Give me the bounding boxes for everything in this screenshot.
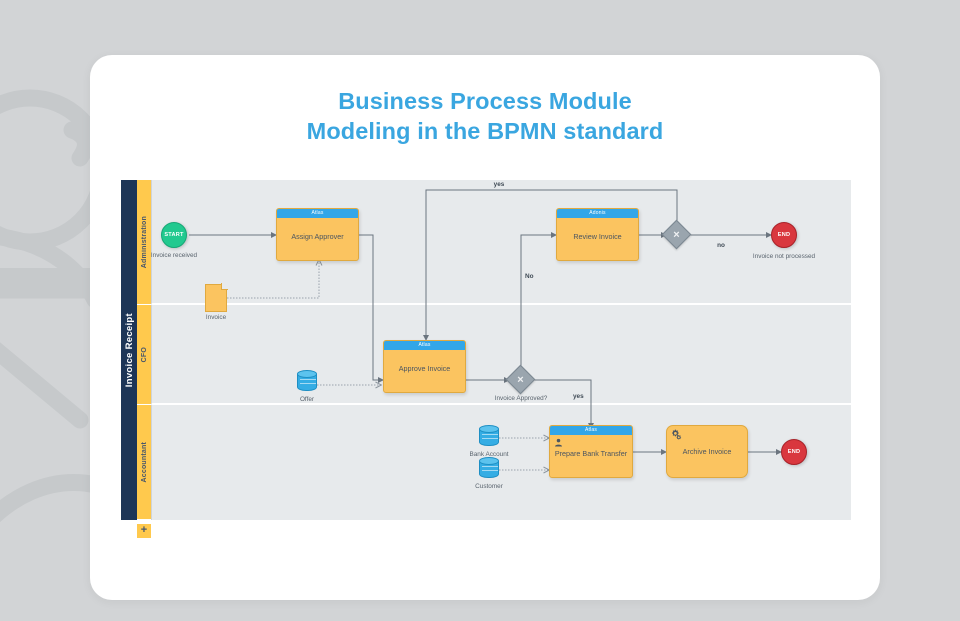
flow-label-yes-top: yes	[494, 181, 505, 189]
add-lane-button[interactable]: +	[137, 524, 151, 538]
task-review-invoice-label: Review Invoice	[569, 232, 625, 241]
task-approve-invoice-system: Atlas	[384, 341, 465, 350]
end-event-archive[interactable]: END	[781, 439, 807, 465]
artifact-invoice-document[interactable]	[205, 284, 227, 312]
end-event-invoice-not-processed-caption: Invoice not processed	[753, 253, 815, 261]
flow-label-no-right: no	[717, 242, 725, 250]
flow-label-no-middle: No	[525, 273, 534, 281]
page-title: Business Process Module Modeling in the …	[90, 86, 880, 146]
task-review-invoice[interactable]: Adonis Review Invoice	[556, 208, 639, 261]
datastore-top	[479, 425, 499, 433]
task-approve-invoice[interactable]: Atlas Approve Invoice	[383, 340, 466, 393]
task-review-invoice-system: Adonis	[557, 209, 638, 218]
task-assign-approver-label: Assign Approver	[287, 232, 347, 241]
start-event[interactable]: START	[161, 222, 187, 248]
task-prepare-bank-transfer-system: Atlas	[550, 426, 632, 435]
task-prepare-bank-transfer-label: Prepare Bank Transfer	[551, 449, 631, 458]
gateway-invoice-approved[interactable]	[506, 365, 536, 395]
title-line-2: Modeling in the BPMN standard	[90, 116, 880, 146]
datastore-bank-account[interactable]	[479, 425, 499, 449]
content-card: Business Process Module Modeling in the …	[90, 55, 880, 600]
document-fold-icon	[221, 283, 228, 290]
start-event-caption: Invoice received	[151, 252, 197, 260]
datastore-top	[479, 457, 499, 465]
end-event-invoice-not-processed[interactable]: END	[771, 222, 797, 248]
title-line-1: Business Process Module	[90, 86, 880, 116]
bpmn-diagram: Invoice Receipt Administration CFO Accou…	[121, 180, 851, 520]
flow-label-yes-down: yes	[573, 393, 584, 401]
task-archive-invoice[interactable]: Archive Invoice	[666, 425, 748, 478]
datastore-offer-label: Offer	[300, 396, 314, 404]
datastore-top	[297, 370, 317, 378]
gateway-invoice-approved-label: Invoice Approved?	[495, 395, 548, 403]
bpmn-nodes: START Invoice received Atlas Assign Appr…	[121, 180, 851, 520]
datastore-customer[interactable]	[479, 457, 499, 481]
task-assign-approver[interactable]: Atlas Assign Approver	[276, 208, 359, 261]
datastore-customer-label: Customer	[475, 483, 503, 491]
datastore-offer[interactable]	[297, 370, 317, 394]
artifact-invoice-label: Invoice	[206, 314, 226, 322]
user-icon	[554, 438, 563, 447]
task-approve-invoice-label: Approve Invoice	[395, 364, 455, 373]
task-archive-invoice-label: Archive Invoice	[679, 447, 736, 456]
task-assign-approver-system: Atlas	[277, 209, 358, 218]
gears-icon	[671, 429, 682, 440]
gateway-review-decision[interactable]	[662, 220, 692, 250]
task-prepare-bank-transfer[interactable]: Atlas Prepare Bank Transfer	[549, 425, 633, 478]
